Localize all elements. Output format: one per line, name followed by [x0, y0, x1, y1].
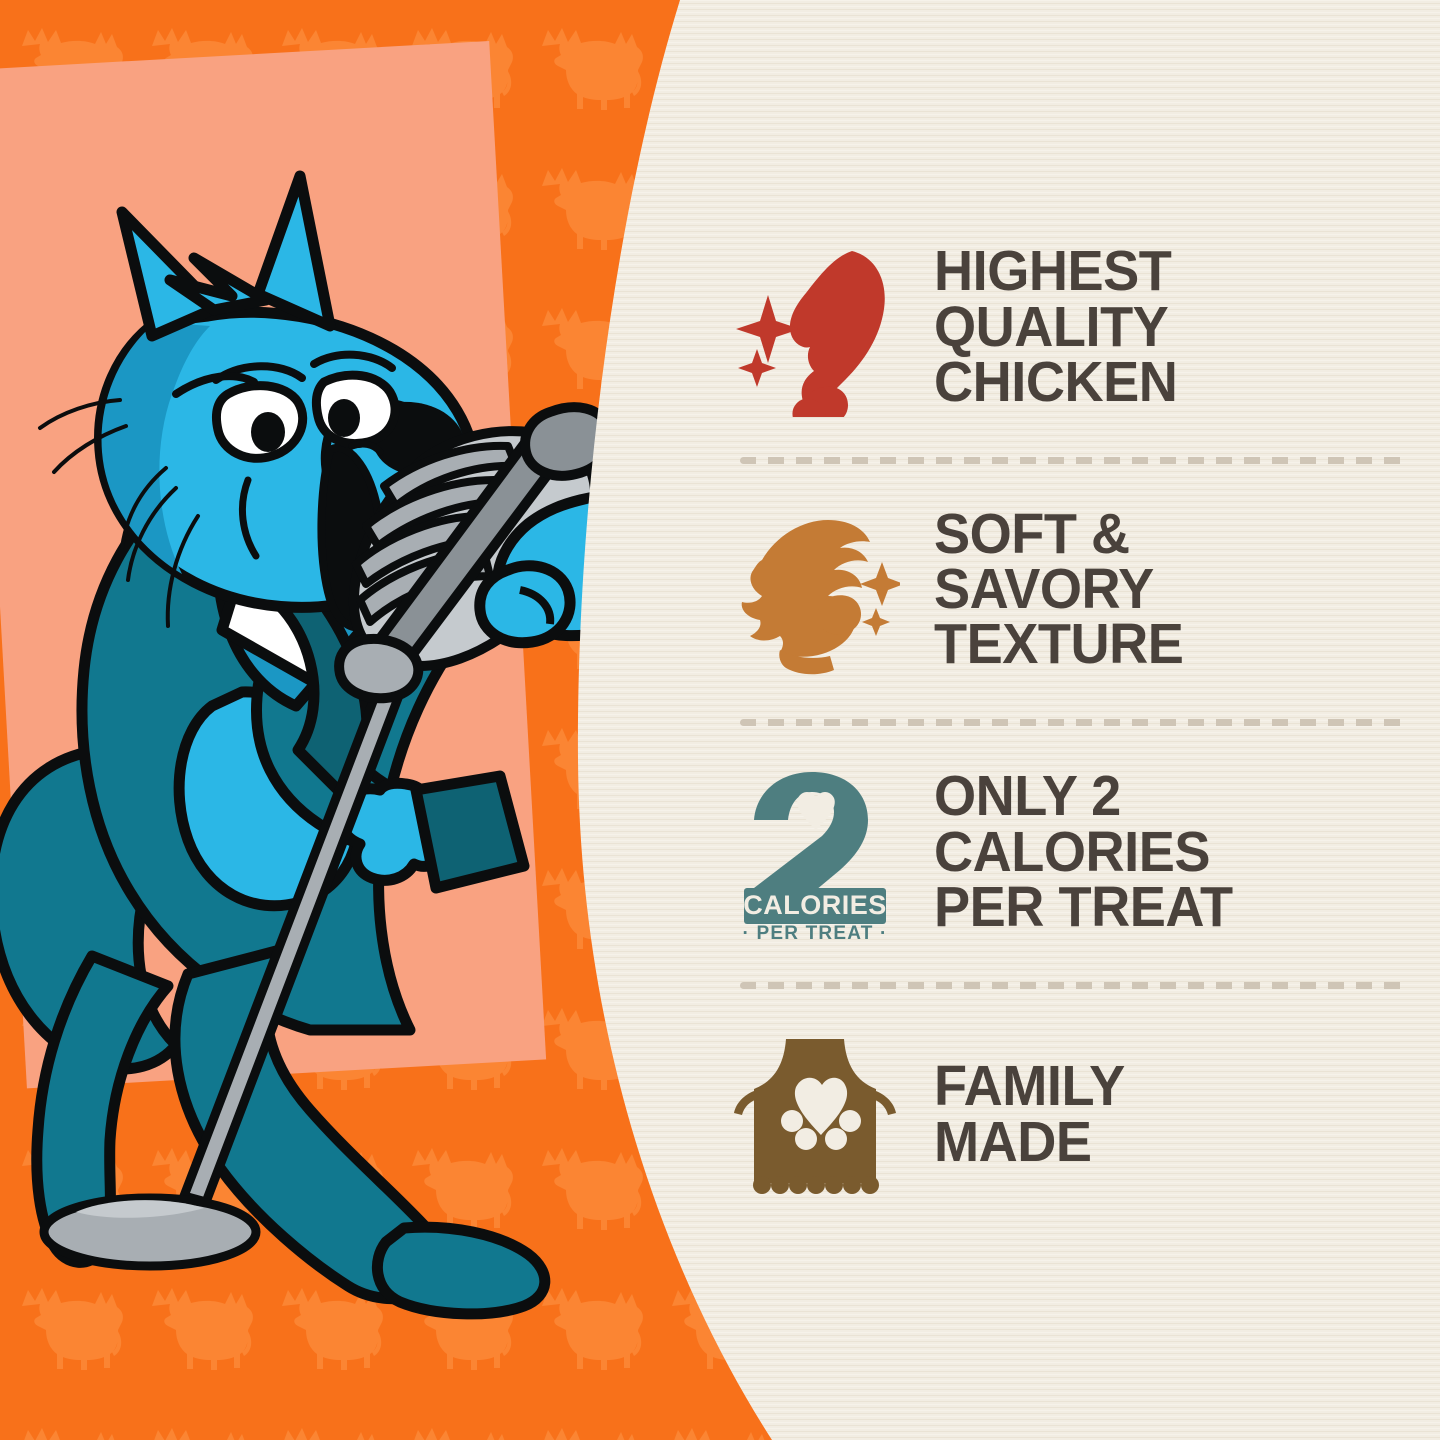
benefit-line: HIGHEST [934, 244, 1177, 299]
benefit-line: QUALITY [934, 300, 1177, 355]
benefit-only-2-calories-per-treat: CALORIES · PER TREAT · ONLY 2 CALORIES P… [730, 721, 1390, 984]
dashed-rule [740, 719, 1410, 726]
dashed-rule [740, 457, 1410, 464]
benefit-soft-and-savory-texture: SOFT & SAVORY TEXTURE [730, 459, 1390, 722]
benefit-line: SAVORY [934, 562, 1183, 617]
benefit-line: SOFT & [934, 507, 1183, 562]
benefit-line: FAMILY [934, 1059, 1125, 1114]
chicken-drumstick-icon [730, 237, 900, 417]
hand-squeezing-treat-icon [730, 500, 900, 680]
infographic-canvas: HIGHEST QUALITY CHICKEN [0, 0, 1440, 1440]
benefit-line: ONLY 2 [934, 769, 1233, 824]
apron-heart-paw-icon [730, 1025, 900, 1205]
benefit-label: HIGHEST QUALITY CHICKEN [934, 244, 1177, 410]
benefit-label: SOFT & SAVORY TEXTURE [934, 507, 1183, 673]
benefit-line: CHICKEN [934, 355, 1177, 410]
calories-badge-icon: CALORIES · PER TREAT · [730, 762, 900, 942]
benefit-line: TEXTURE [934, 617, 1183, 672]
benefit-line: CALORIES [934, 825, 1233, 880]
benefit-line: PER TREAT [934, 880, 1233, 935]
benefits-list: HIGHEST QUALITY CHICKEN [730, 196, 1390, 1246]
benefit-highest-quality-chicken: HIGHEST QUALITY CHICKEN [730, 196, 1390, 459]
benefit-label: ONLY 2 CALORIES PER TREAT [934, 769, 1233, 935]
dashed-rule [740, 982, 1410, 989]
calories-bar-label: CALORIES [743, 890, 887, 920]
per-treat-label: · PER TREAT · [742, 923, 887, 942]
benefit-line: MADE [934, 1115, 1125, 1170]
benefit-family-made: FAMILY MADE [730, 984, 1390, 1247]
benefit-label: FAMILY MADE [934, 1059, 1125, 1170]
